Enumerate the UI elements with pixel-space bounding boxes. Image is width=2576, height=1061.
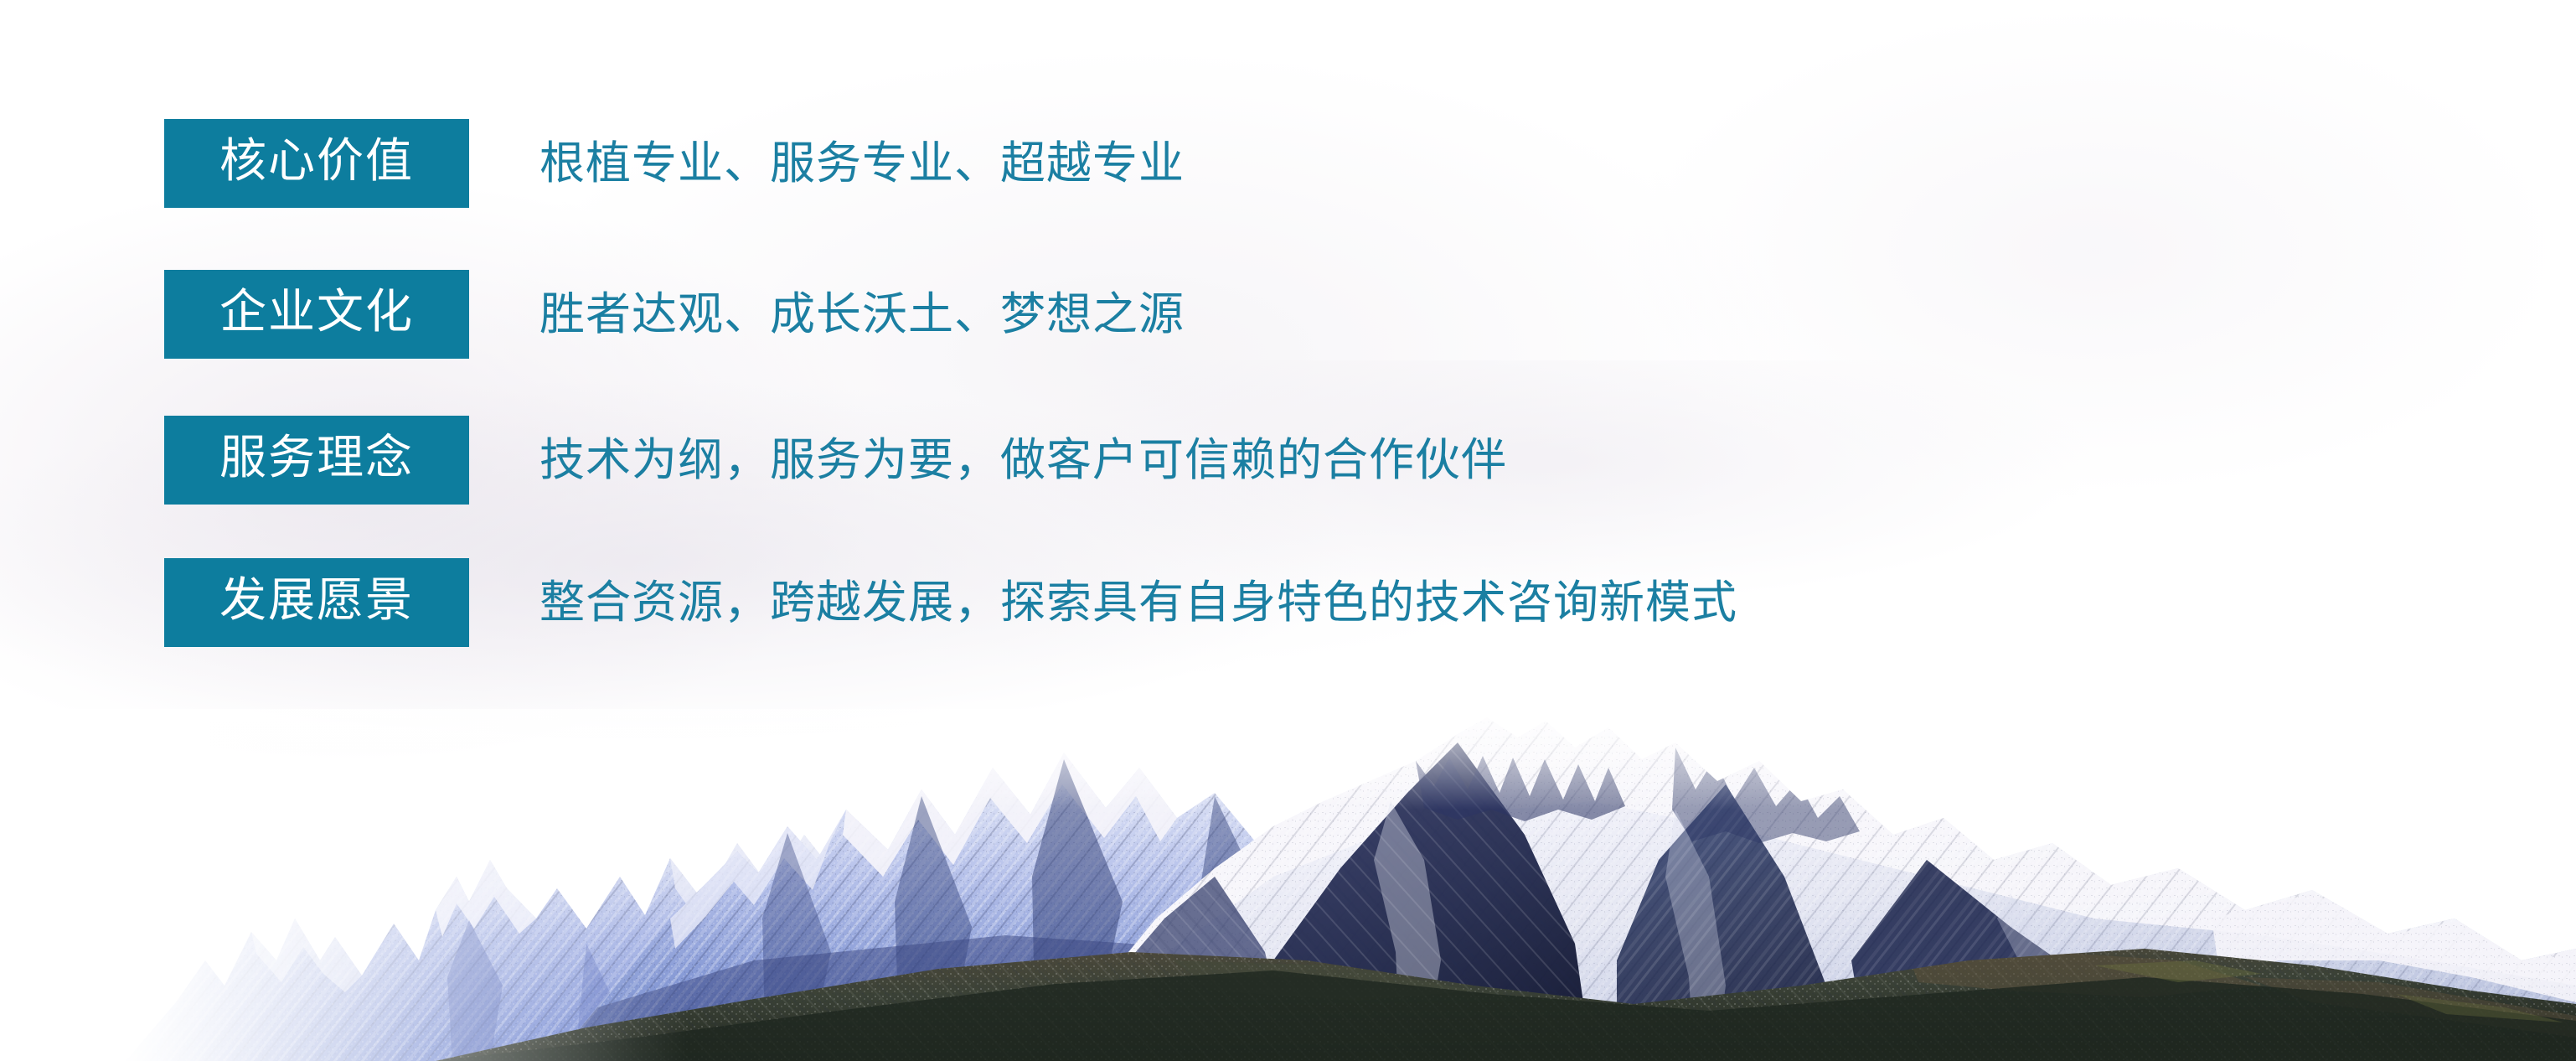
mountain-svg: [0, 709, 2576, 1061]
tag-development-vision: 发展愿景: [164, 558, 469, 647]
slide-canvas: 核心价值 根植专业、服务专业、超越专业 企业文化 胜者达观、成长沃土、梦想之源 …: [0, 0, 2576, 1061]
tag-corporate-culture: 企业文化: [164, 270, 469, 359]
text-corporate-culture: 胜者达观、成长沃土、梦想之源: [539, 292, 1185, 337]
list-item: 服务理念 技术为纲，服务为要，做客户可信赖的合作伙伴: [164, 416, 1507, 505]
text-development-vision: 整合资源，跨越发展，探索具有自身特色的技术咨询新模式: [539, 580, 1737, 625]
list-item: 发展愿景 整合资源，跨越发展，探索具有自身特色的技术咨询新模式: [164, 558, 1737, 647]
mountain-landscape-image: [0, 709, 2576, 1061]
left-fade: [0, 709, 687, 1061]
text-service-philosophy: 技术为纲，服务为要，做客户可信赖的合作伙伴: [539, 437, 1507, 483]
tag-service-philosophy: 服务理念: [164, 416, 469, 505]
text-core-values: 根植专业、服务专业、超越专业: [539, 141, 1185, 186]
list-item: 企业文化 胜者达观、成长沃土、梦想之源: [164, 270, 1185, 359]
list-item: 核心价值 根植专业、服务专业、超越专业: [164, 119, 1185, 208]
tag-core-values: 核心价值: [164, 119, 469, 208]
